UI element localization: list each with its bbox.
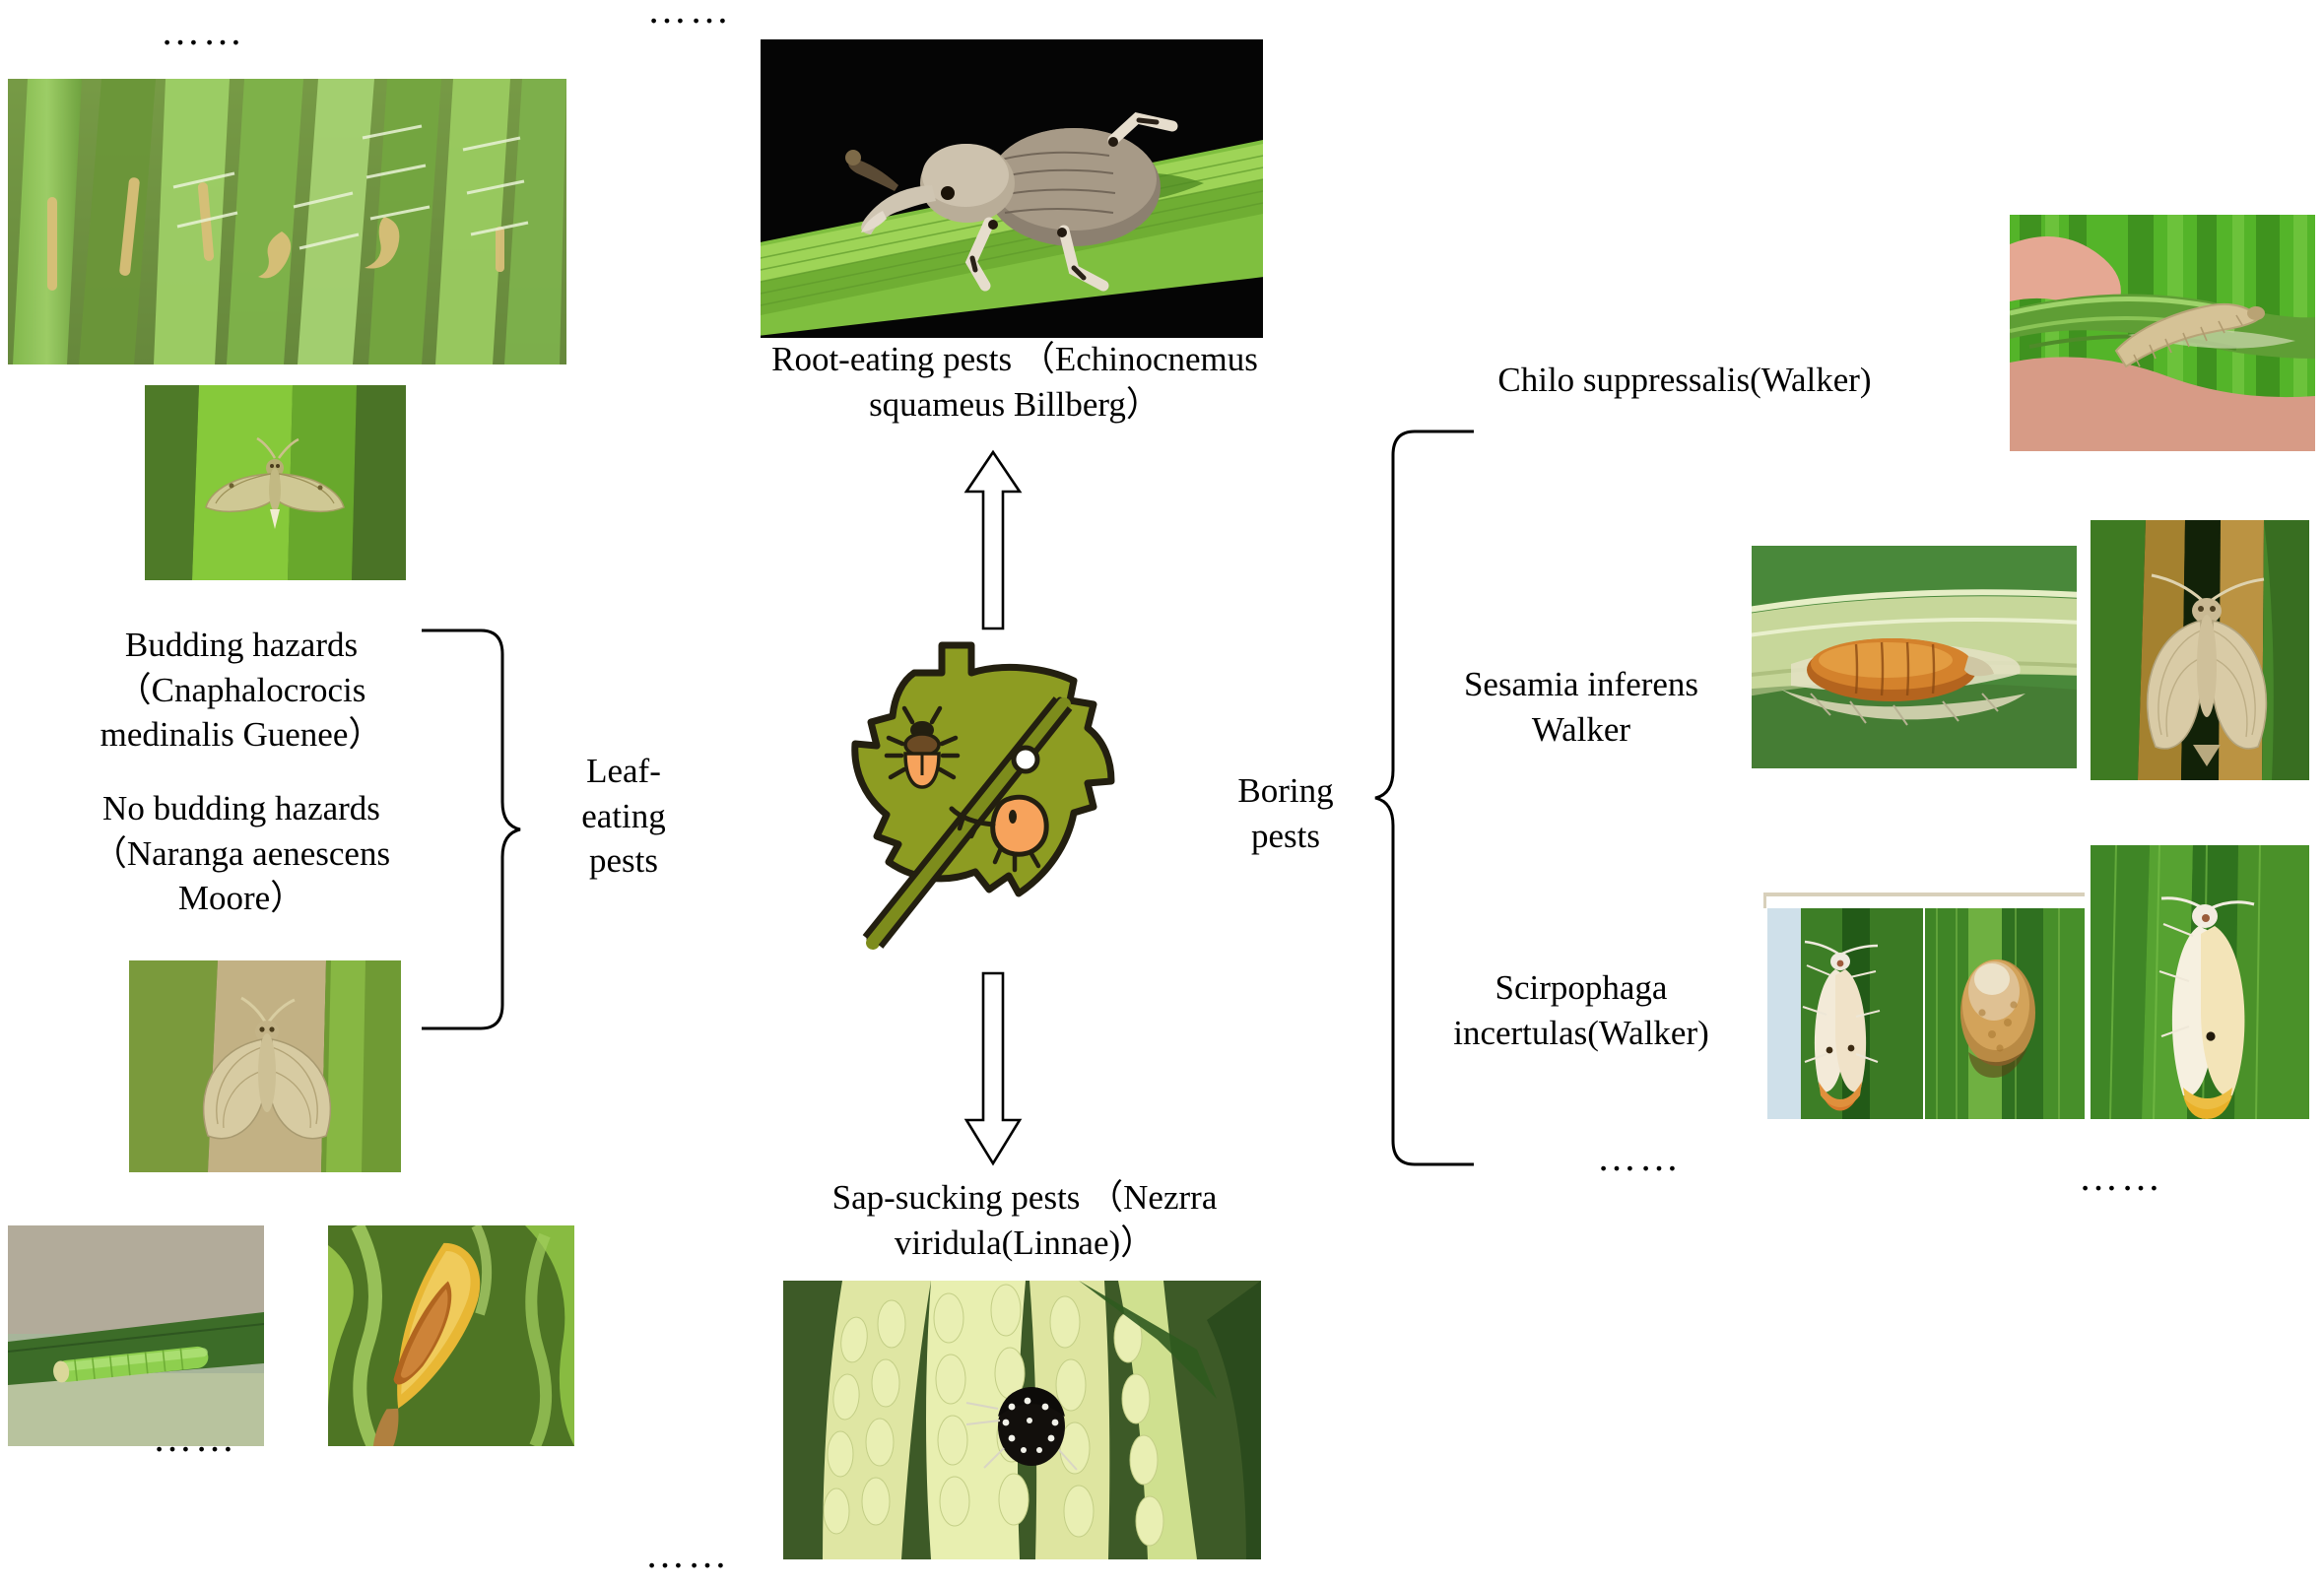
photo-chilo-larva-on-stem <box>2010 215 2315 451</box>
ellipsis-top-center: …… <box>647 0 732 30</box>
photo-scirpophaga-female-moth <box>2091 845 2309 1119</box>
photo-nezara-stink-bug-on-panicle <box>783 1281 1261 1559</box>
up-arrow <box>963 448 1023 630</box>
photo-sesamia-pupa-in-stem <box>1752 546 2077 768</box>
down-arrow <box>963 970 1023 1167</box>
label-leaf-eating-pests: Leaf- eating pests <box>540 749 707 884</box>
ellipsis-top-left: …… <box>161 12 245 51</box>
leaf-eating-brace <box>418 627 524 1032</box>
photo-sesamia-adult-moth <box>2091 520 2309 780</box>
photo-echinocnemus-weevil <box>761 39 1263 338</box>
photo-cnaphalocrocis-larvae-strip <box>8 79 566 364</box>
label-root-eating-pests: Root-eating pests （Echinocnemus squameus… <box>699 337 1330 427</box>
label-budding-hazards: Budding hazards （Cnaphalocrocis medinali… <box>59 623 424 758</box>
damaged-rice-leaf-illustration <box>816 626 1129 951</box>
photo-cnaphalocrocis-adult-moth <box>145 385 406 580</box>
ellipsis-boring-lower-center: …… <box>1597 1138 1682 1177</box>
label-sesamia-inferens: Sesamia inferens Walker <box>1419 662 1744 752</box>
label-no-budding-hazards: No budding hazards （Naranga aenescens Mo… <box>49 786 433 921</box>
photo-naranga-green-larva <box>8 1225 264 1446</box>
photo-naranga-adult-moth <box>129 960 401 1172</box>
photo-scirpophaga-adult-and-egg-mass <box>1763 875 2087 1119</box>
label-chilo-suppressalis: Chilo suppressalis(Walker) <box>1428 358 1941 403</box>
label-boring-pests: Boring pests <box>1197 768 1374 858</box>
leaf-hole <box>1014 748 1037 771</box>
ellipsis-bottom-center: …… <box>645 1535 730 1574</box>
label-sap-sucking-pests: Sap-sucking pests （Nezrra viridula(Linna… <box>729 1175 1320 1265</box>
ellipsis-boring-lower-right: …… <box>2079 1157 2163 1197</box>
label-scirpophaga-incertulas: Scirpophaga incertulas(Walker) <box>1419 965 1744 1055</box>
boring-pests-brace <box>1371 428 1478 1168</box>
photo-damaged-rice-bud <box>328 1225 574 1446</box>
